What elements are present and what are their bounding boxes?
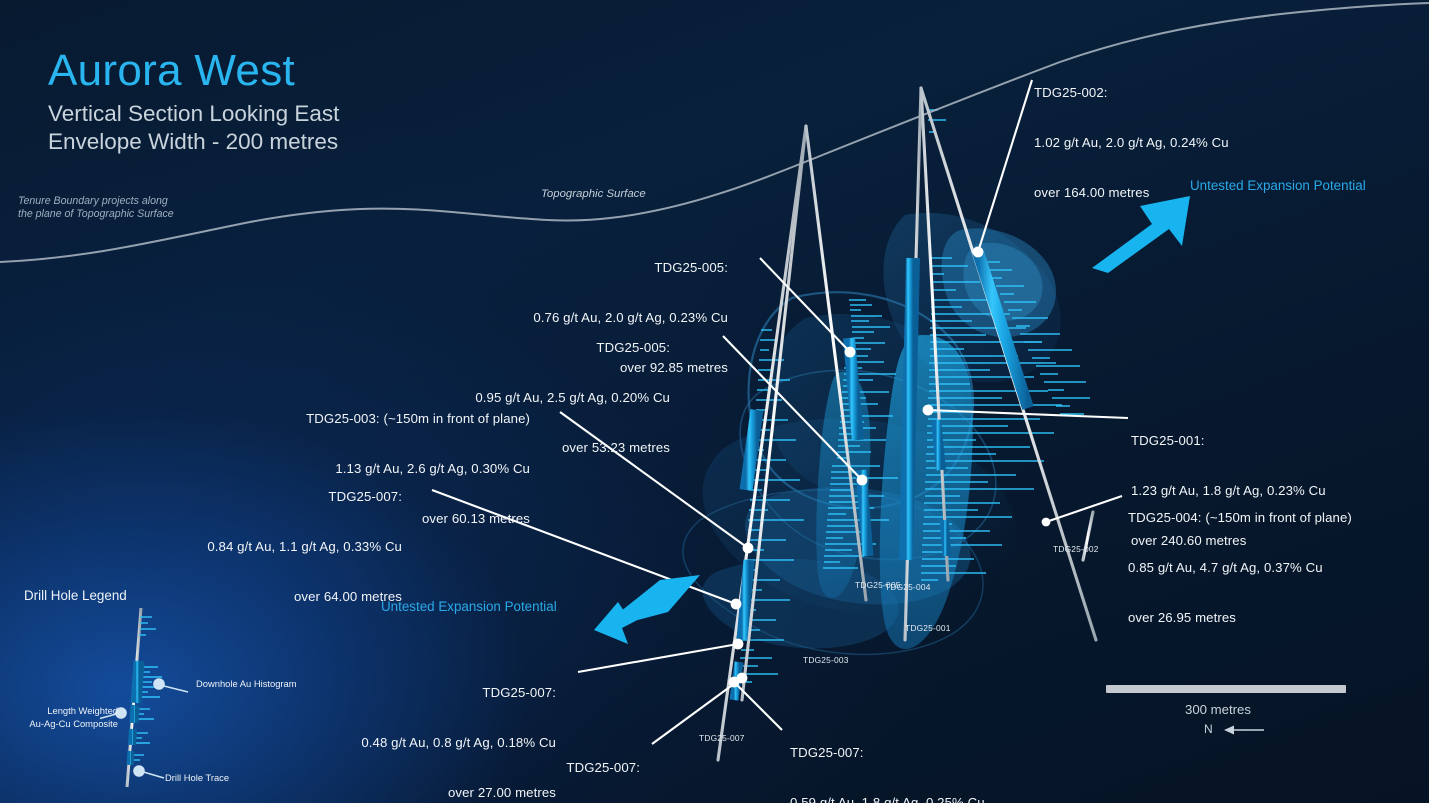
callout-grades: 0.59 g/t Au, 1.8 g/t Ag, 0.25% Cu [790,795,985,803]
scale-length-label: 300 metres [1185,702,1251,717]
collar-label-tdg25-003: TDG25-003 [803,655,849,665]
callout-grades: 1.02 g/t Au, 2.0 g/t Ag, 0.24% Cu [1034,135,1229,152]
callout-grades: 0.84 g/t Au, 1.1 g/t Ag, 0.33% Cu [110,539,402,556]
collar-label-tdg25-007: TDG25-007 [699,733,745,743]
callout-hole-id: TDG25-004: (~150m in front of plane) [1128,510,1352,527]
collar-label-tdg25-004: TDG25-004 [885,582,931,592]
north-arrow-icon [1222,722,1268,738]
callout-tdg25-002: TDG25-002: 1.02 g/t Au, 2.0 g/t Ag, 0.24… [1034,52,1229,235]
legend-label-downhole-au-histogram: Downhole Au Histogram [196,677,297,690]
callout-hole-id: TDG25-007: [352,760,640,777]
callout-interval: over 26.95 metres [1128,610,1352,627]
collar-label-tdg25-001: TDG25-001 [905,623,951,633]
callout-interval: over 164.00 metres [1034,185,1229,202]
legend-composite-rod-3 [132,729,133,745]
subtitle-line-2: Envelope Width - 200 metres [48,128,338,156]
expansion-arrow-lower-left-2 [596,575,700,631]
topographic-surface-label: Topographic Surface [541,188,646,200]
legend-label-length-weighted-composite: Length Weighted Au-Ag-Cu Composite [0,704,118,730]
callout-hole-id: TDG25-007: [110,489,402,506]
collar-label-tdg25-002: TDG25-002 [1053,544,1099,554]
untested-expansion-label-lower-left: Untested Expansion Potential [381,599,557,614]
callout-tdg25-004: TDG25-004: (~150m in front of plane) 0.8… [1128,477,1352,660]
callout-hole-id: TDG25-005: [370,340,670,357]
callout-hole-id: TDG25-001: [1131,433,1326,450]
callout-tdg25-007-c: TDG25-007: 0.87 g/t Au, 1.5 g/t Ag, 0.22… [352,727,640,803]
callout-hole-id: TDG25-007: [270,685,556,702]
callout-hole-id: TDG25-007: [790,745,985,762]
legend-composite-rod-4 [130,751,131,765]
page-title: Aurora West [48,46,295,96]
callout-tdg25-007-d: TDG25-007: 0.59 g/t Au, 1.8 g/t Ag, 0.25… [790,712,985,803]
legend-title: Drill Hole Legend [24,588,127,603]
callout-hole-id: TDG25-002: [1034,85,1229,102]
tenure-boundary-note: Tenure Boundary projects along the plane… [18,195,174,222]
callout-grades: 0.85 g/t Au, 4.7 g/t Ag, 0.37% Cu [1128,560,1352,577]
legend-composite-rod-1 [136,661,139,703]
callout-interval: over 64.00 metres [110,589,402,606]
north-label: N [1204,722,1213,736]
callout-hole-id: TDG25-003: (~150m in front of plane) [220,411,530,428]
legend-label-drill-hole-trace: Drill Hole Trace [165,771,229,784]
legend-composite-rod-2 [134,705,135,723]
subtitle-line-1: Vertical Section Looking East [48,100,339,128]
callout-hole-id: TDG25-005: [428,260,728,277]
section-diagram: Aurora West Vertical Section Looking Eas… [0,0,1429,803]
scale-bar [1106,685,1346,693]
